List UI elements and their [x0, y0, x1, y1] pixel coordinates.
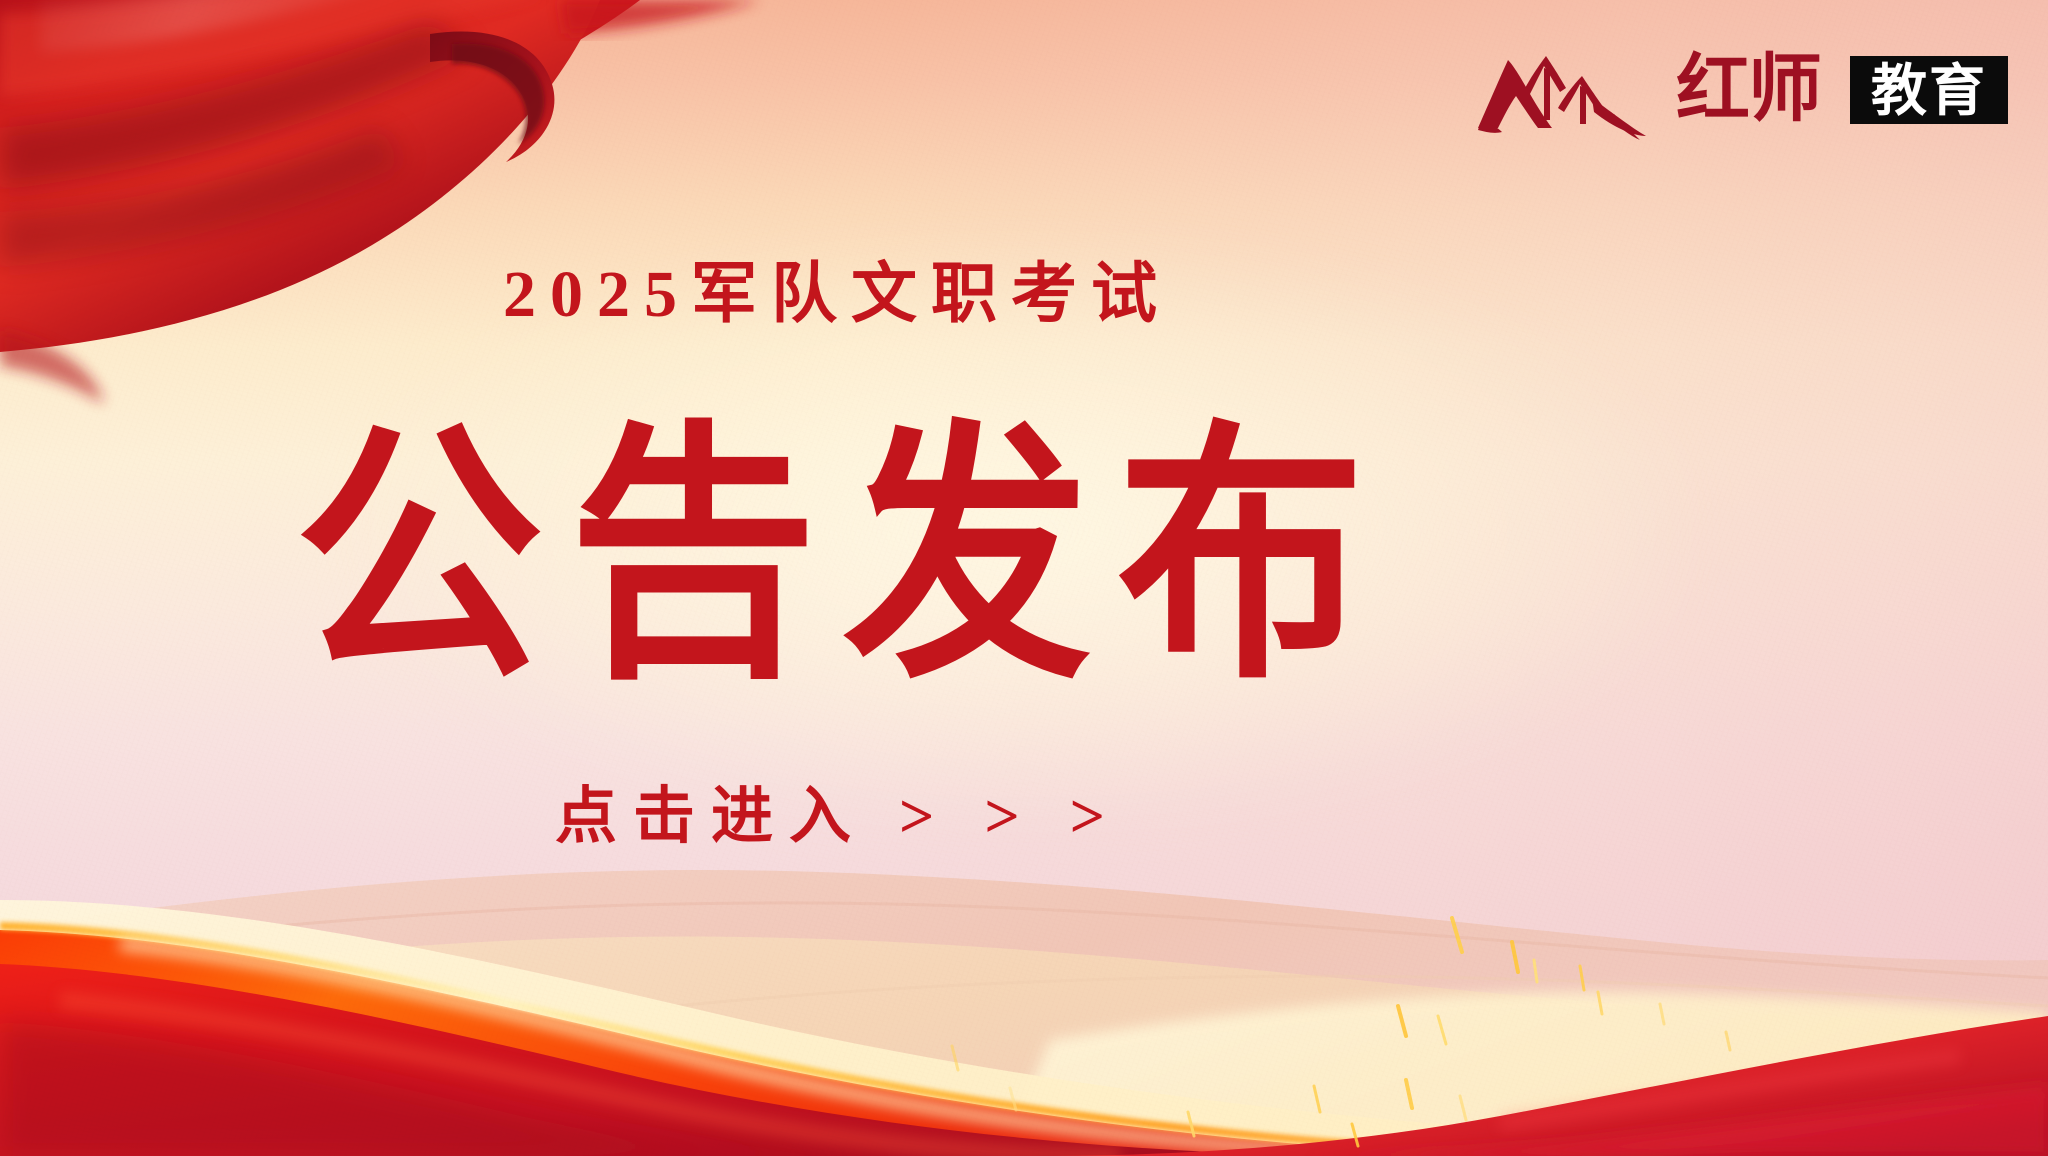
chevron-right-icon: > [1054, 786, 1121, 848]
banner-headline: 公告发布 [269, 420, 1391, 693]
promo-banner: 红师 教育 2025军队文职考试 公告发布 点击进入 > > > [0, 0, 2048, 1156]
banner-content: 2025军队文职考试 公告发布 点击进入 > > > [0, 0, 1660, 1156]
svg-text:教育: 教育 [1871, 59, 1987, 122]
chevron-right-icon: > [968, 786, 1035, 848]
chevron-right-icon: > [883, 786, 950, 848]
cta-arrow-group: > > > [883, 786, 1121, 848]
cta-label: 点击进入 [539, 786, 867, 848]
brand-script-hongshi: 红师 [1676, 44, 1844, 136]
cta-row[interactable]: 点击进入 > > > [539, 786, 1121, 848]
svg-text:红师: 红师 [1676, 49, 1820, 131]
brand-badge-jiaoyu: 教育 [1850, 56, 2008, 124]
banner-subtitle: 2025军队文职考试 [489, 262, 1171, 328]
brand-badge-text: 教育 [1850, 56, 2008, 124]
